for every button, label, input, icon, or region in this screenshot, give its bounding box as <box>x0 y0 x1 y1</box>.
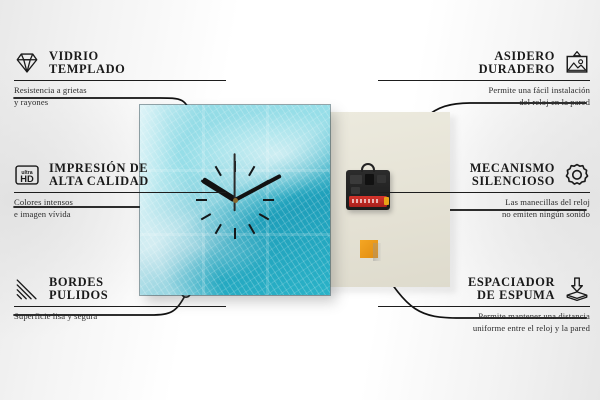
mechanism-slot <box>365 174 374 185</box>
diamond-icon <box>14 50 40 76</box>
mechanism-slot <box>350 175 362 184</box>
desc-line1: Permite mantener una distancia <box>478 311 590 321</box>
desc-line2: e imagen vívida <box>14 209 71 219</box>
feature-divider <box>378 80 590 81</box>
feature-title-line2: DURADERO <box>479 63 555 76</box>
feature-mecanismo-silencioso: MECANISMO SILENCIOSO Las manecillas del … <box>378 162 590 220</box>
feature-description: Las manecillas del reloj no emiten ningú… <box>378 197 590 220</box>
feature-asidero-duradero: ASIDERO DURADERO Permite una fácil insta… <box>378 50 590 108</box>
desc-line1: Permite una fácil instalación <box>488 85 590 95</box>
ultra-hd-icon: ultra HD <box>14 162 40 188</box>
feature-title-line2: DE ESPUMA <box>468 289 555 302</box>
infographic-canvas: VIDRIO TEMPLADO Resistencia a grietas y … <box>0 0 600 400</box>
feature-description: Resistencia a grietas y rayones <box>14 85 226 108</box>
feature-description: Superficie lisa y segura <box>14 311 226 322</box>
feature-divider <box>14 80 226 81</box>
ultra-hd-large-label: HD <box>20 174 34 184</box>
clock-center-pin <box>233 198 238 203</box>
desc-line2: del reloj en la pared <box>519 97 590 107</box>
hanging-frame-icon <box>564 50 590 76</box>
feature-description: Permite mantener una distancia uniforme … <box>378 311 590 334</box>
feature-divider <box>378 306 590 307</box>
desc-line1: Colores intensos <box>14 197 73 207</box>
desc-line2: no emiten ningún sonido <box>502 209 590 219</box>
feature-divider <box>378 192 590 193</box>
feature-title-line2: PULIDOS <box>49 289 108 302</box>
feature-description: Colores intensos e imagen vívida <box>14 197 226 220</box>
mechanism-slot <box>351 187 360 194</box>
clock-second-hand <box>234 153 236 211</box>
feature-divider <box>14 306 226 307</box>
gear-icon <box>564 162 590 188</box>
battery-label <box>352 199 380 203</box>
feature-title-line2: TEMPLADO <box>49 63 125 76</box>
feature-divider <box>14 192 226 193</box>
polished-edges-icon <box>14 276 40 302</box>
foam-spacer-icon <box>564 276 590 302</box>
feature-title-line2: SILENCIOSO <box>470 175 555 188</box>
feature-impresion-alta-calidad: ultra HD IMPRESIÓN DE ALTA CALIDAD Color… <box>14 162 226 220</box>
feature-bordes-pulidos: BORDES PULIDOS Superficie lisa y segura <box>14 276 226 323</box>
feature-description: Permite una fácil instalación del reloj … <box>378 85 590 108</box>
desc-line1: Las manecillas del reloj <box>505 197 590 207</box>
desc-line1: Resistencia a grietas <box>14 85 87 95</box>
feature-title-line2: ALTA CALIDAD <box>49 175 149 188</box>
mechanism-hook-icon <box>361 163 375 172</box>
desc-line2: y rayones <box>14 97 48 107</box>
feature-vidrio-templado: VIDRIO TEMPLADO Resistencia a grietas y … <box>14 50 226 108</box>
foam-spacer <box>360 240 378 258</box>
desc-line1: Superficie lisa y segura <box>14 311 97 321</box>
feature-espaciador-de-espuma: ESPACIADOR DE ESPUMA Permite mantener un… <box>378 276 590 334</box>
desc-line2: uniforme entre el reloj y la pared <box>473 323 590 333</box>
